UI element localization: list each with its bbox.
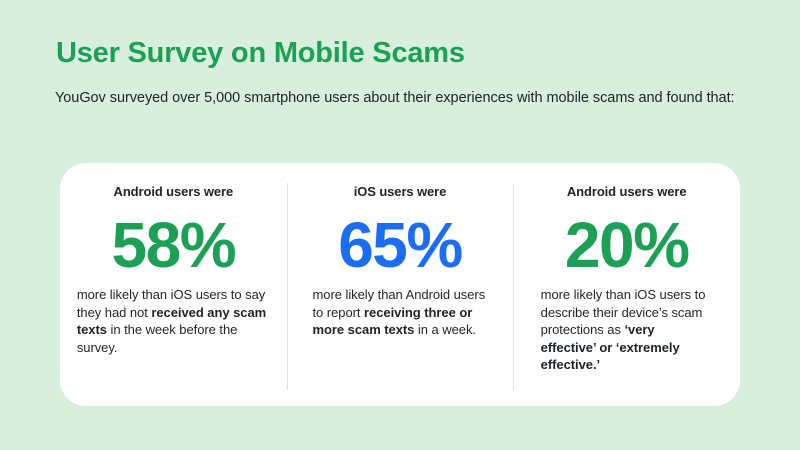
stat-header-3: Android users were [567, 183, 687, 201]
stat-value-2: 65% [338, 210, 462, 280]
infographic-page: User Survey on Mobile Scams YouGov surve… [0, 0, 800, 450]
stat-value-1: 58% [112, 210, 236, 280]
stat-column-1: Android users were 58% more likely than … [60, 163, 287, 406]
stat-column-3: Android users were 20% more likely than … [513, 163, 740, 406]
stat-value-3: 20% [565, 210, 689, 280]
stat-body-1: more likely than iOS users to say they h… [77, 286, 270, 356]
intro-paragraph: YouGov surveyed over 5,000 smartphone us… [55, 86, 755, 110]
stat-column-2: iOS users were 65% more likely than Andr… [287, 163, 514, 406]
stat-header-2: iOS users were [354, 183, 447, 201]
stats-card: Android users were 58% more likely than … [60, 163, 740, 406]
stat-body-2: more likely than Android users to report… [313, 286, 488, 339]
page-title: User Survey on Mobile Scams [56, 36, 465, 70]
stat-body-3: more likely than iOS users to describe t… [541, 286, 713, 374]
stat-header-1: Android users were [114, 183, 234, 201]
